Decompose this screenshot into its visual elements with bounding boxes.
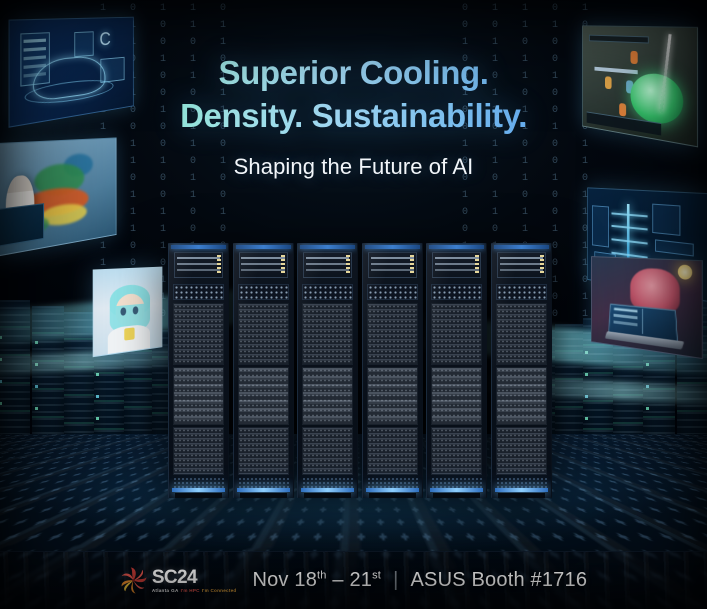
rack-bottom-led: [366, 488, 419, 492]
rack-server-block: [367, 367, 418, 425]
event-dates-mid: – 21: [327, 569, 372, 591]
rack-cable-tray: [497, 252, 546, 278]
rack-server-block: [302, 427, 353, 475]
rack-foot: [433, 493, 480, 498]
rack-server-block: [431, 427, 482, 475]
rack-top-led: [236, 245, 291, 249]
rack-top-led: [365, 245, 420, 249]
rack-server-block: [367, 427, 418, 475]
rack-server-block: [173, 303, 224, 365]
event-banner: SC24 Atlanta GA I'm HPC I'm Connected No…: [0, 551, 707, 609]
laptop-ui-lines: [614, 308, 638, 313]
rack-patch-panel: [431, 284, 482, 300]
rack-cable-tray: [432, 252, 481, 278]
rack-server-block: [496, 303, 547, 365]
dna-panel-2: [653, 203, 681, 236]
rack-server-block: [173, 427, 224, 475]
rack-patch-panel: [302, 284, 353, 300]
dna-panel-3: [655, 239, 694, 256]
server-rack: [491, 243, 552, 498]
headline: Superior Cooling. Density. Sustainabilit…: [0, 52, 707, 138]
character-eye-left: [120, 307, 126, 316]
server-rack-row: [168, 243, 552, 498]
booth-number: ASUS Booth #1716: [410, 569, 587, 592]
stage-light: [677, 264, 691, 279]
game-hud-top: [589, 34, 649, 43]
server-rack: [362, 243, 423, 498]
rack-top-led: [171, 245, 226, 249]
sc24-spiral-icon: [120, 567, 147, 594]
headline-line-1: Superior Cooling.: [218, 54, 488, 91]
rack-server-block: [431, 367, 482, 425]
rack-foot: [498, 493, 545, 498]
rack-patch-panel: [496, 284, 547, 300]
event-dates-start: Nov 18: [252, 569, 317, 591]
rack-cable-tray: [239, 252, 288, 278]
rack-server-block: [173, 367, 224, 425]
cad-label: C: [99, 29, 110, 51]
rack-foot: [304, 493, 351, 498]
sc24-state: GA: [171, 589, 178, 594]
rack-server-block: [238, 303, 289, 365]
rack-server-block: [496, 367, 547, 425]
rack-server-block: [238, 427, 289, 475]
rack-foot: [369, 493, 416, 498]
character-ribbon: [124, 327, 135, 340]
rack-cable-tray: [303, 252, 352, 278]
dna-branch-3: [611, 238, 648, 244]
sc24-logo-text: SC24 Atlanta GA I'm HPC I'm Connected: [152, 568, 237, 594]
rack-patch-panel: [238, 284, 289, 300]
rack-foot: [240, 493, 287, 498]
server-rack: [233, 243, 294, 498]
rack-patch-panel: [173, 284, 224, 300]
sc24-city: Atlanta: [152, 589, 169, 594]
headline-block: Superior Cooling. Density. Sustainabilit…: [0, 52, 707, 180]
sc24-tagline-hpc: I'm HPC: [181, 589, 200, 594]
dna-branch-1: [611, 212, 648, 217]
sc24-subtext: Atlanta GA I'm HPC I'm Connected: [152, 589, 237, 594]
secondary-display-panel: [0, 203, 44, 247]
sc24-logo: SC24 Atlanta GA I'm HPC I'm Connected: [120, 567, 237, 594]
rack-server-block: [302, 367, 353, 425]
headline-line-2: Density. Sustainability.: [0, 95, 707, 138]
rack-server-block: [302, 303, 353, 365]
rack-patch-panel: [367, 284, 418, 300]
promo-banner-image: 1 0 1 1 0 0 1 0 1 1 0 1 0 0 1 1 0 1 1 0 …: [0, 0, 707, 609]
rack-server-block: [431, 303, 482, 365]
rack-bottom-led: [430, 488, 483, 492]
dna-branch-2: [611, 225, 648, 231]
rack-bottom-led: [172, 488, 225, 492]
rack-cable-tray: [368, 252, 417, 278]
banner-info-text: Nov 18th – 21st | ASUS Booth #1716: [252, 569, 587, 592]
rack-foot: [175, 493, 222, 498]
rack-bottom-led: [495, 488, 548, 492]
rack-bottom-led: [237, 488, 290, 492]
rack-bottom-led: [301, 488, 354, 492]
rack-cable-tray: [174, 252, 223, 278]
screen-anime-character-render: [93, 267, 163, 358]
dna-panel-1: [592, 205, 609, 247]
rack-top-led: [300, 245, 355, 249]
banner-divider: |: [391, 569, 400, 592]
date-suffix-th: th: [317, 569, 327, 581]
event-dates: Nov 18th – 21st: [252, 569, 381, 592]
sc24-tagline-connected: I'm Connected: [202, 589, 237, 594]
rack-server-block: [496, 427, 547, 475]
rack-top-led: [429, 245, 484, 249]
sc24-title: SC24: [152, 568, 237, 587]
rack-top-led: [494, 245, 549, 249]
date-suffix-st: st: [372, 569, 381, 581]
server-rack: [168, 243, 229, 498]
server-rack: [426, 243, 487, 498]
rack-server-block: [238, 367, 289, 425]
server-rack: [297, 243, 358, 498]
rack-server-block: [367, 303, 418, 365]
screen-laptop-concert-render: [591, 256, 703, 359]
subheadline: Shaping the Future of AI: [0, 154, 707, 180]
